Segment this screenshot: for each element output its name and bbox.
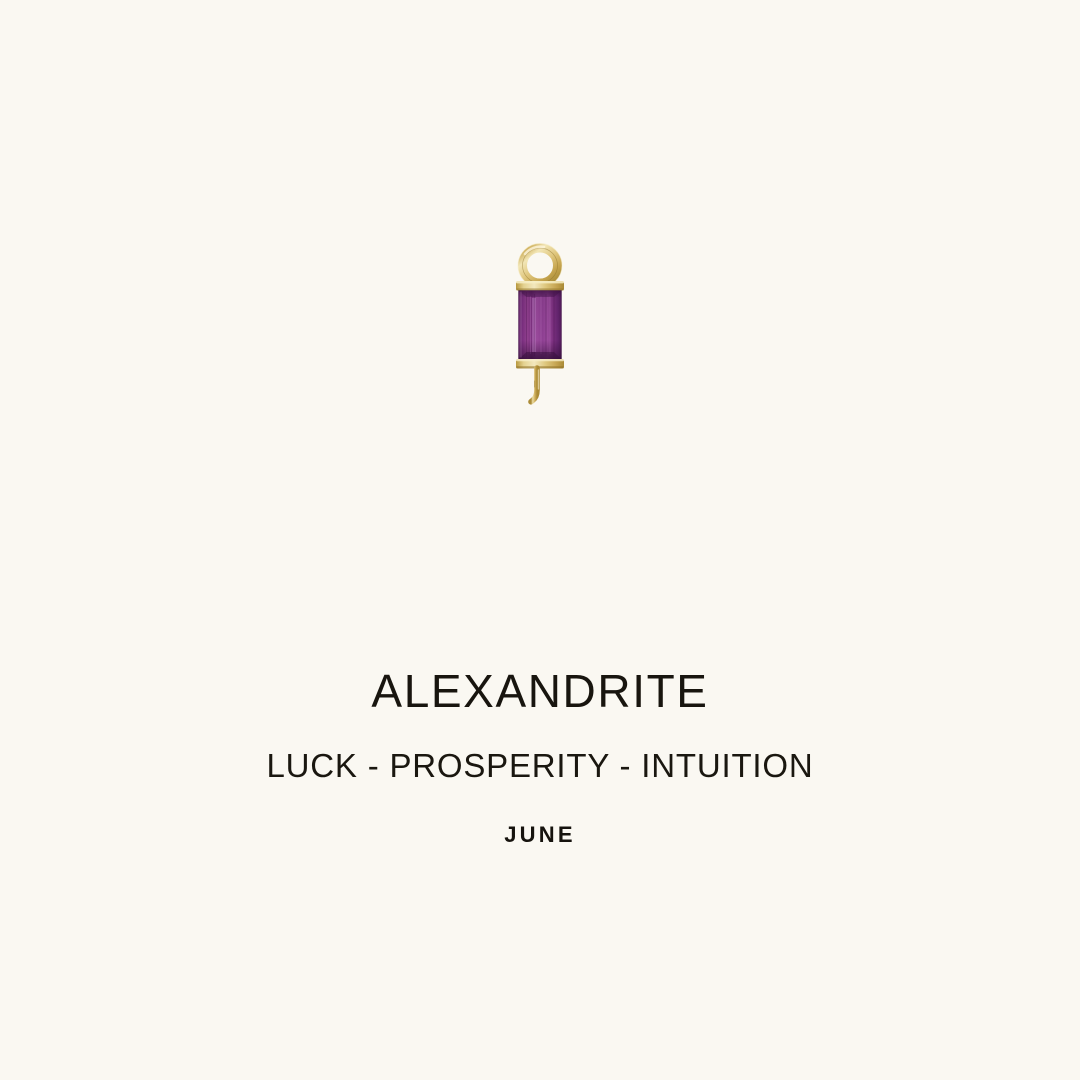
birth-month-label: JUNE — [0, 824, 1080, 846]
birthstone-card: ALEXANDRITE LUCK - PROSPERITY - INTUITIO… — [0, 0, 1080, 1080]
birthstone-charm-illustration — [470, 240, 610, 440]
product-text-block: ALEXANDRITE LUCK - PROSPERITY - INTUITIO… — [0, 668, 1080, 846]
top-bezel-bar — [516, 281, 564, 291]
jump-ring-icon — [518, 244, 562, 288]
gemstone-name: ALEXANDRITE — [0, 668, 1080, 714]
earring-post — [531, 368, 538, 402]
bottom-bezel-bar — [516, 359, 564, 369]
product-image — [0, 0, 1080, 660]
baguette-gemstone — [519, 291, 562, 360]
gemstone-attributes: LUCK - PROSPERITY - INTUITION — [0, 749, 1080, 782]
